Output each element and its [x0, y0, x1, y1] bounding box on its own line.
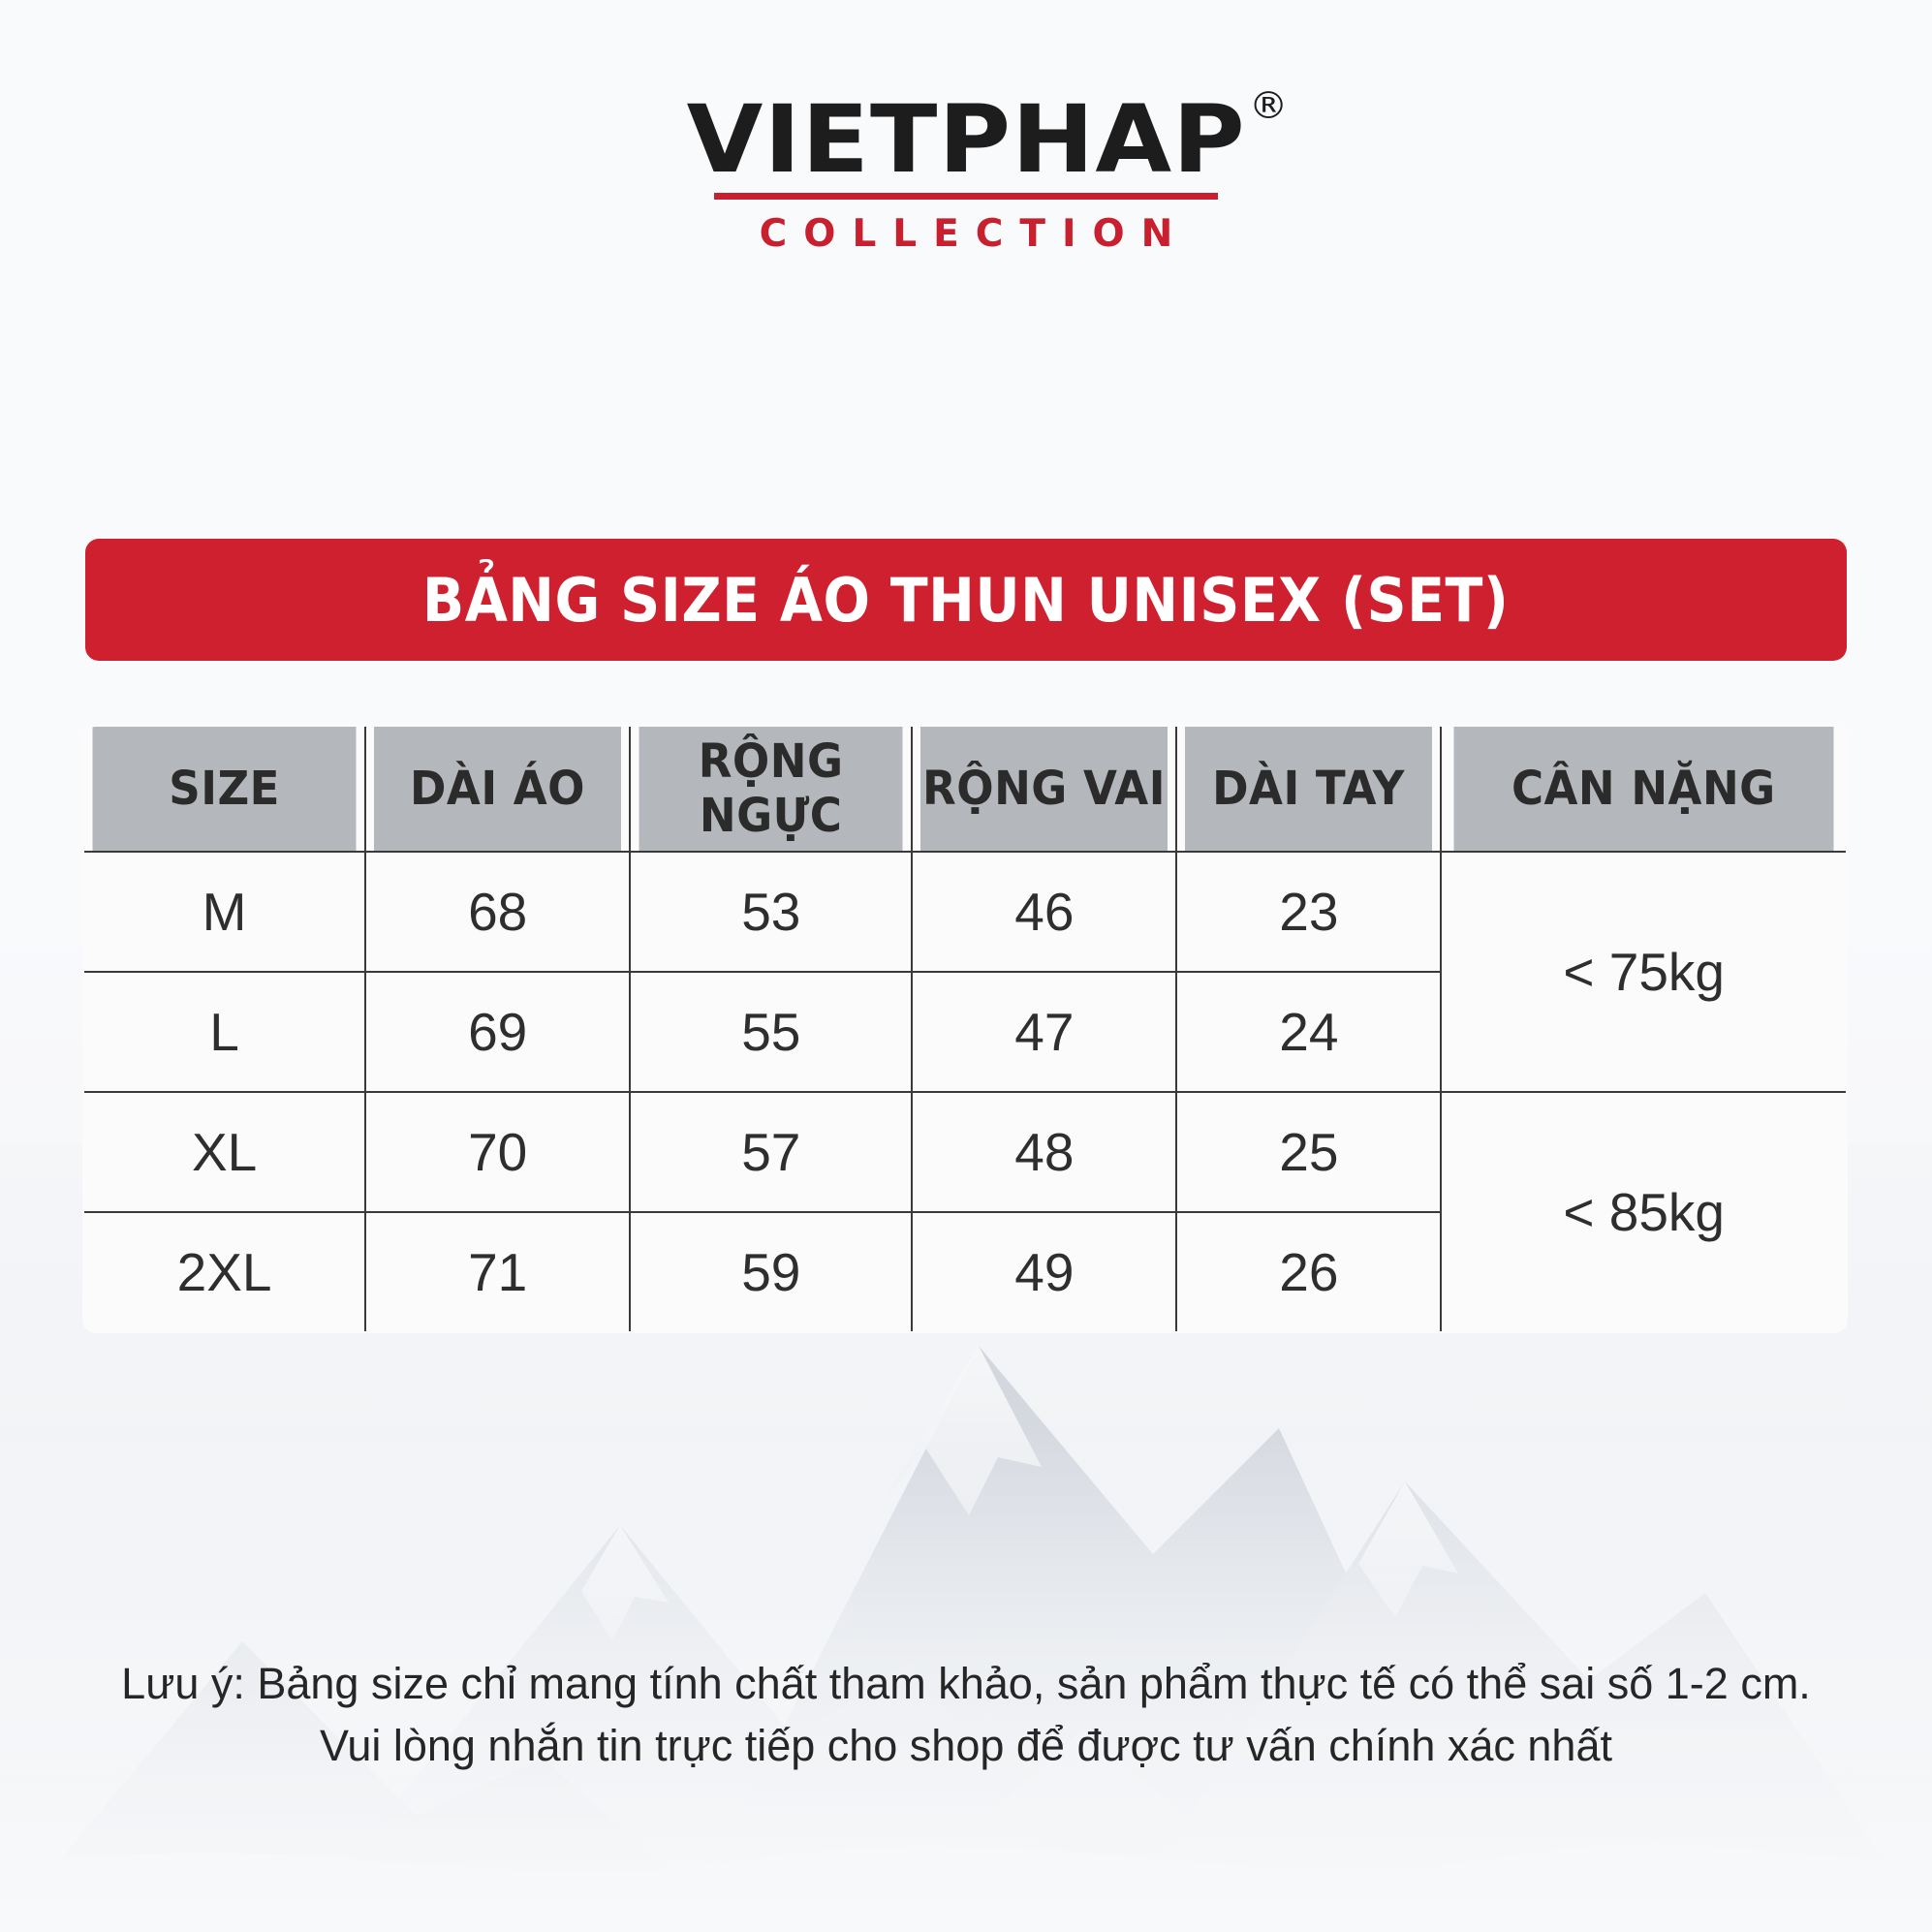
cell-size: M — [83, 852, 365, 972]
cell-rong-nguc: 57 — [630, 1092, 912, 1212]
cell-dai-tay: 23 — [1176, 852, 1441, 972]
cell-size: L — [83, 972, 365, 1092]
cell-dai-tay: 26 — [1176, 1212, 1441, 1332]
brand-logo: VIETPHAP® COLLECTION — [0, 93, 1932, 256]
cell-size: XL — [83, 1092, 365, 1212]
column-header-rong-nguc: RỘNG NGỰC — [639, 726, 904, 852]
cell-dai-ao: 71 — [365, 1212, 630, 1332]
disclaimer-note: Lưu ý: Bảng size chỉ mang tính chất tham… — [0, 1653, 1932, 1777]
size-table: SIZE DÀI ÁO RỘNG NGỰC RỘNG VAI DÀI TAY C… — [82, 725, 1848, 1333]
cell-dai-ao: 68 — [365, 852, 630, 972]
cell-rong-vai: 49 — [912, 1212, 1176, 1332]
cell-dai-tay: 25 — [1176, 1092, 1441, 1212]
page-title: BẢNG SIZE ÁO THUN UNISEX (SET) — [422, 565, 1510, 636]
chart-title-banner: BẢNG SIZE ÁO THUN UNISEX (SET) — [85, 539, 1847, 661]
size-chart-page: VIETPHAP® COLLECTION BẢNG SIZE ÁO THUN U… — [0, 0, 1932, 1932]
disclaimer-line-1: Lưu ý: Bảng size chỉ mang tính chất tham… — [0, 1653, 1932, 1715]
size-table-container: SIZE DÀI ÁO RỘNG NGỰC RỘNG VAI DÀI TAY C… — [82, 725, 1848, 1333]
brand-tagline: COLLECTION — [0, 212, 1932, 256]
cell-dai-ao: 70 — [365, 1092, 630, 1212]
cell-rong-vai: 47 — [912, 972, 1176, 1092]
column-header-can-nang: CÂN NẶNG — [1453, 726, 1835, 852]
cell-rong-nguc: 55 — [630, 972, 912, 1092]
cell-size: 2XL — [83, 1212, 365, 1332]
column-header-size: SIZE — [92, 726, 358, 852]
cell-rong-nguc: 59 — [630, 1212, 912, 1332]
registered-trademark-icon: ® — [1249, 87, 1289, 125]
brand-wordmark: VIETPHAP® — [686, 93, 1245, 188]
cell-can-nang: < 75kg — [1441, 852, 1847, 1092]
cell-dai-ao: 69 — [365, 972, 630, 1092]
column-header-dai-ao: DÀI ÁO — [373, 726, 622, 852]
column-header-rong-vai: RỘNG VAI — [920, 726, 1169, 852]
table-header: SIZE DÀI ÁO RỘNG NGỰC RỘNG VAI DÀI TAY C… — [83, 726, 1847, 852]
table-row: XL 70 57 48 25 < 85kg — [83, 1092, 1847, 1212]
brand-name-text: VIETPHAP — [686, 85, 1245, 194]
cell-rong-vai: 46 — [912, 852, 1176, 972]
cell-rong-vai: 48 — [912, 1092, 1176, 1212]
cell-rong-nguc: 53 — [630, 852, 912, 972]
cell-dai-tay: 24 — [1176, 972, 1441, 1092]
disclaimer-line-2: Vui lòng nhắn tin trực tiếp cho shop để … — [0, 1715, 1932, 1777]
table-body: M 68 53 46 23 < 75kg L 69 55 47 24 XL 70 — [83, 852, 1847, 1332]
table-row: M 68 53 46 23 < 75kg — [83, 852, 1847, 972]
table-header-row: SIZE DÀI ÁO RỘNG NGỰC RỘNG VAI DÀI TAY C… — [83, 726, 1847, 852]
column-header-dai-tay: DÀI TAY — [1185, 726, 1434, 852]
cell-can-nang: < 85kg — [1441, 1092, 1847, 1332]
